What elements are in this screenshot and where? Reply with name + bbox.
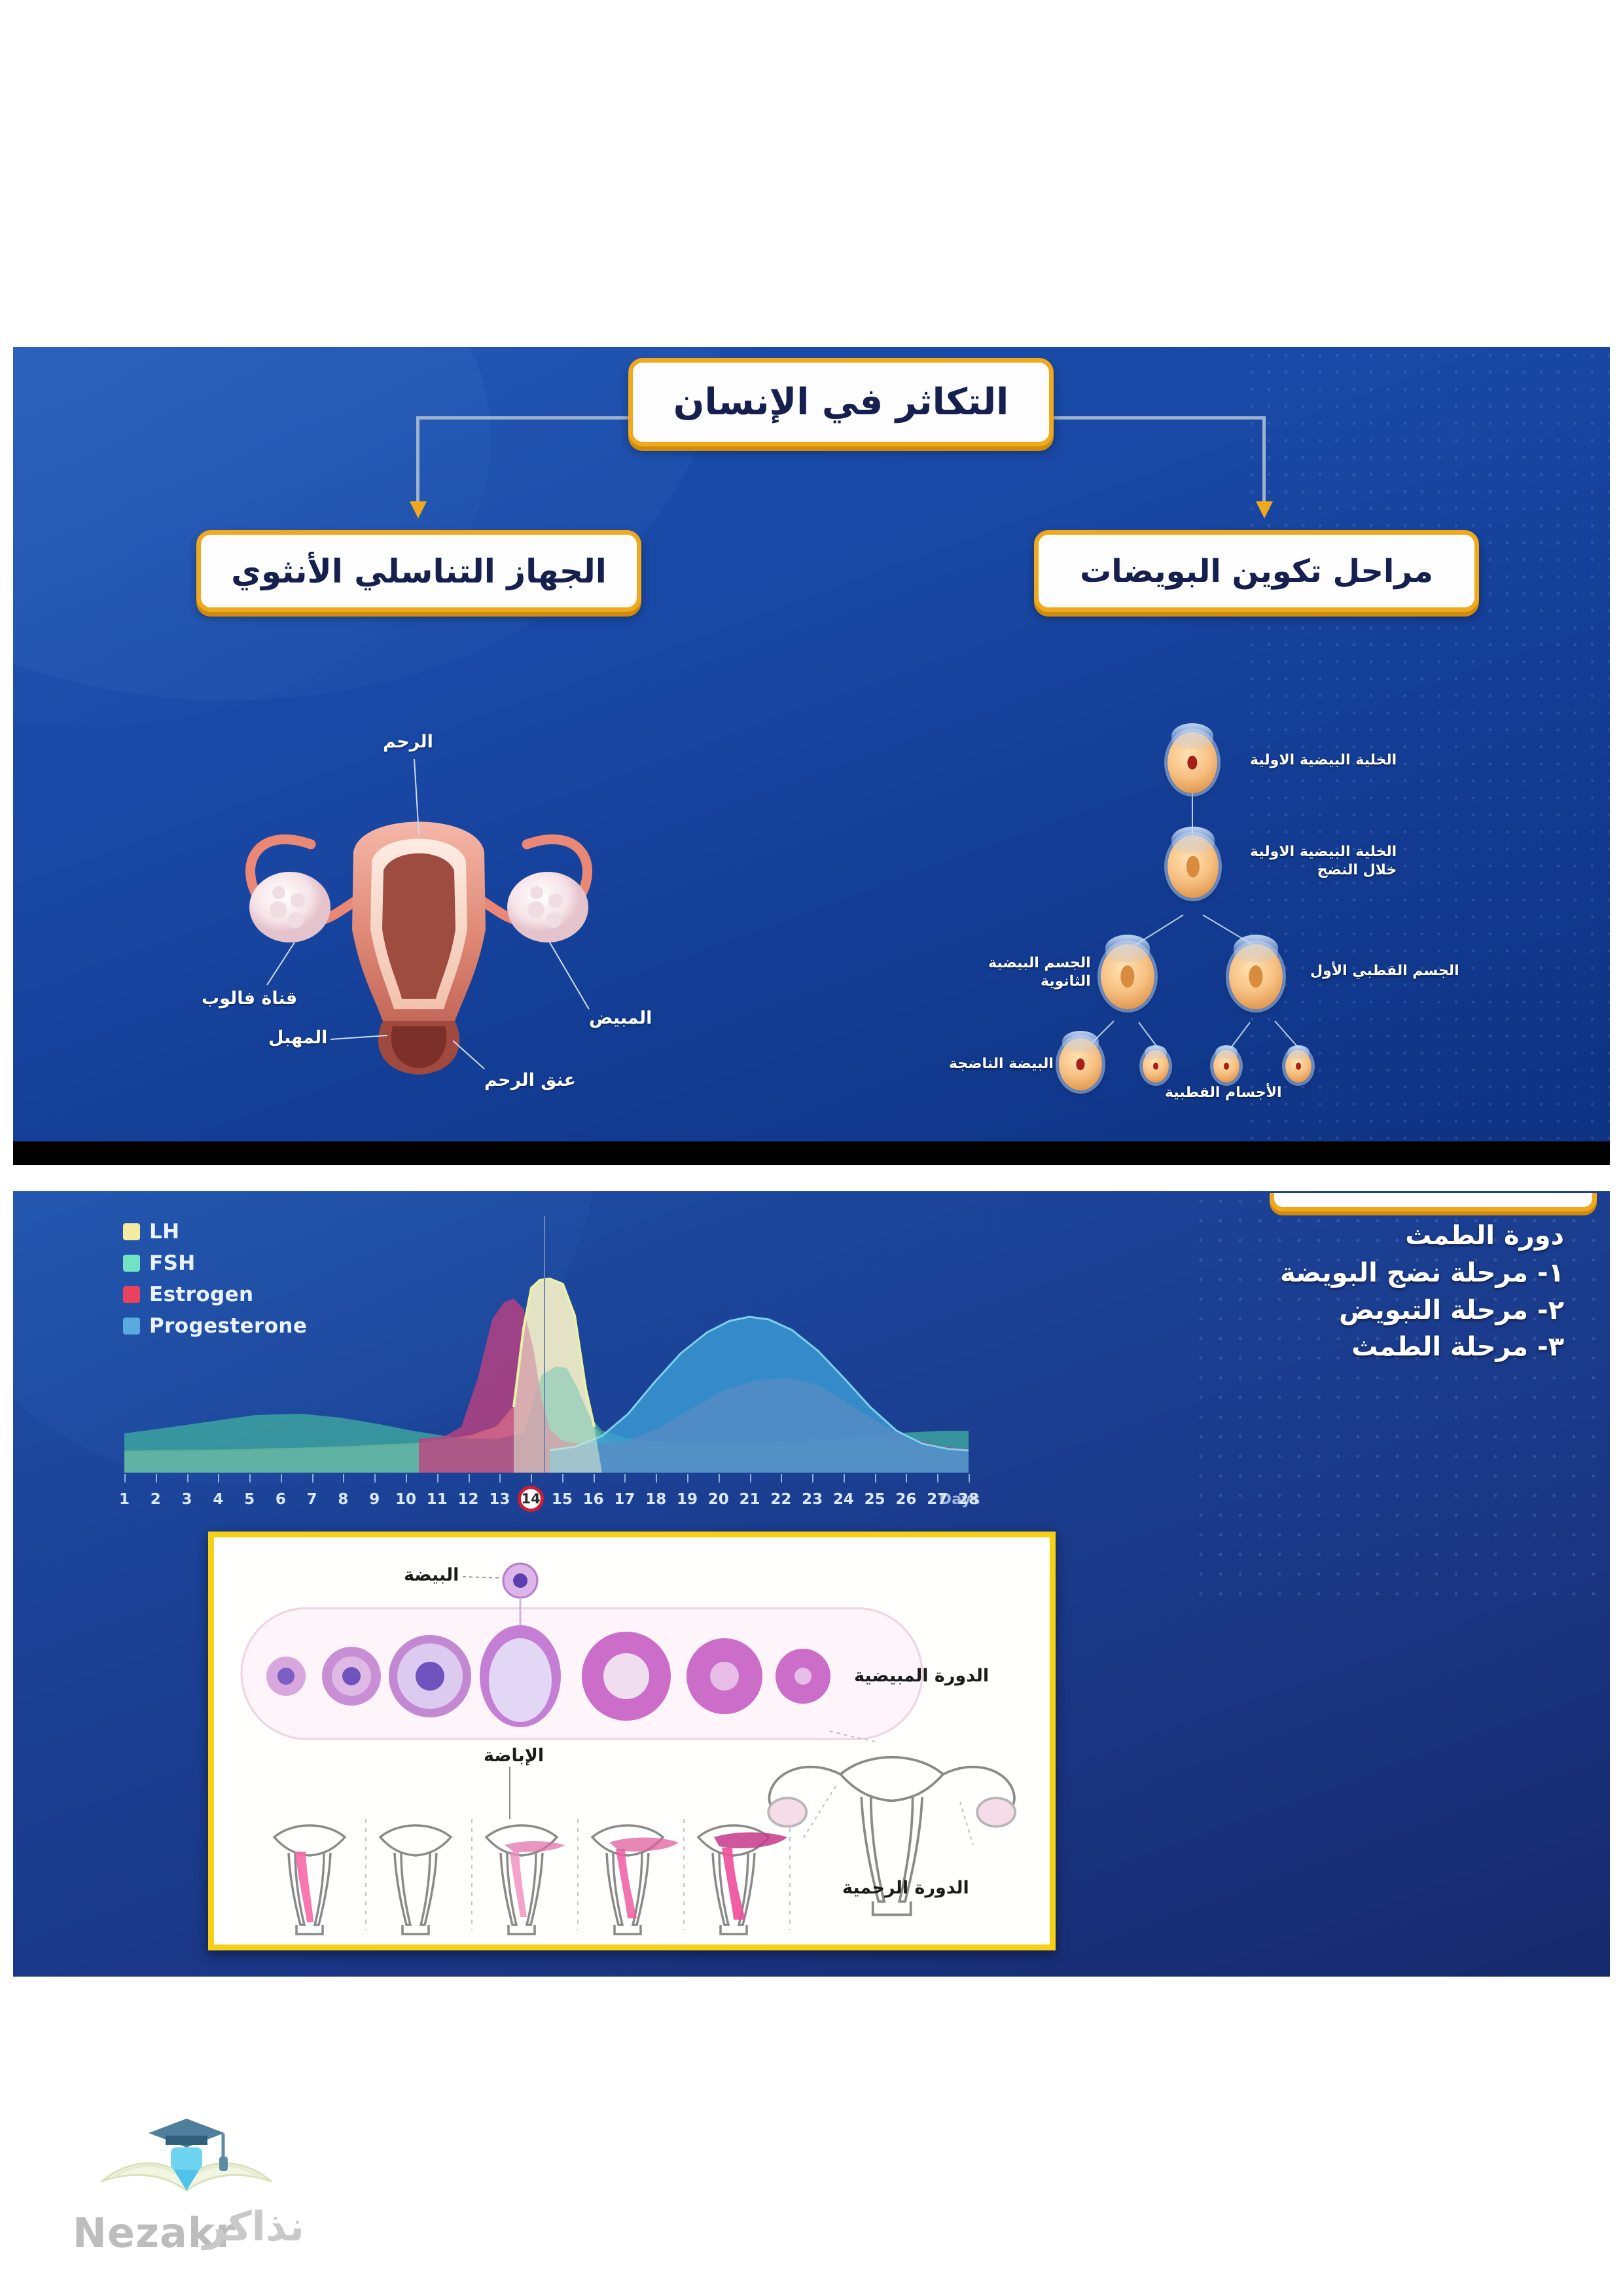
page-title: التكاثر في الإنسان — [628, 358, 1054, 446]
axis-day-label: 23 — [802, 1491, 823, 1508]
axis-day-label: 13 — [489, 1491, 510, 1508]
legend-item-lh: LH — [123, 1220, 307, 1244]
legend-label-estrogen: Estrogen — [149, 1283, 254, 1306]
primary-oocyte-label: الخلية البيضية الاولية — [1250, 751, 1397, 770]
axis-day-label: 17 — [614, 1491, 635, 1508]
branch-box-female-reproductive-system[interactable]: الجهاز التناسلي الأنثوي — [196, 530, 641, 612]
axis-day-label: 5 — [244, 1491, 255, 1508]
menstrual-cycle-text-block: دورة الطمث ١- مرحلة نضج البويضة ٢- مرحلة… — [1047, 1217, 1564, 1366]
legend-item-fsh: FSH — [123, 1251, 307, 1275]
hormone-levels-chart: LH FSH Estrogen Progesterone Days 123456… — [105, 1211, 985, 1486]
uterus-illustration — [196, 713, 641, 1080]
axis-tick — [218, 1474, 219, 1482]
ovulation-day-marker: 14 — [518, 1486, 544, 1512]
vagina-label: المهبل — [268, 1028, 327, 1048]
ovulation-label: الإباضة — [484, 1746, 544, 1766]
axis-day-label: 27 — [927, 1491, 948, 1508]
cycle-heading: دورة الطمث — [1047, 1217, 1564, 1255]
legend-item-progesterone: Progesterone — [123, 1314, 307, 1338]
axis-tick — [781, 1474, 782, 1482]
logo-text-ar: نذاكر — [203, 2202, 304, 2250]
maturing-oocyte-cell — [1168, 835, 1219, 898]
axis-day-label: 28 — [958, 1491, 979, 1508]
chart-x-axis: Days 12345678910111213141516171819202122… — [105, 1471, 985, 1518]
axis-tick — [312, 1474, 313, 1482]
connector-line-left-horizontal — [416, 416, 632, 420]
egg-label: البيضة — [404, 1565, 459, 1585]
axis-day-label: 15 — [552, 1491, 573, 1508]
legend-swatch-progesterone — [123, 1318, 140, 1335]
axis-tick — [594, 1474, 595, 1482]
cervix-label: عنق الرحم — [484, 1070, 576, 1090]
connector-line-right-horizontal — [1050, 416, 1266, 420]
legend-label-progesterone: Progesterone — [149, 1314, 307, 1338]
cycle-item-1: ١- مرحلة نضج البويضة — [1047, 1255, 1564, 1292]
axis-day-label: 8 — [338, 1491, 348, 1508]
ovarian-uterine-cycle-panel: البيضة الإباضة الدورة المبيضية الدورة ال… — [208, 1532, 1056, 1950]
axis-tick — [437, 1474, 438, 1482]
legend-item-estrogen: Estrogen — [123, 1283, 307, 1306]
cell-cap-icon — [1287, 1045, 1310, 1059]
uterus-label: الرحم — [383, 732, 433, 752]
axis-tick — [499, 1474, 501, 1482]
uterine-cycle-label: الدورة الرحمية — [842, 1878, 969, 1898]
axis-tick — [906, 1474, 907, 1482]
axis-tick — [656, 1474, 657, 1482]
first-polar-body-cell — [1229, 944, 1283, 1009]
legend-swatch-lh — [123, 1223, 140, 1240]
oogenesis-stages-diagram: الخلية البيضية الاولية الخلية البيضية ال… — [942, 707, 1479, 1093]
cycle-item-3: ٣- مرحلة الطمث — [1047, 1329, 1564, 1366]
cell-cap-icon — [1171, 723, 1213, 749]
axis-day-label: 22 — [770, 1491, 791, 1508]
cell-cap-icon — [1062, 1031, 1098, 1053]
axis-tick — [812, 1474, 813, 1482]
mature-egg-cell — [1059, 1038, 1102, 1090]
axis-tick — [374, 1474, 376, 1482]
axis-day-label: 26 — [895, 1491, 916, 1508]
axis-day-label: 24 — [833, 1491, 854, 1508]
axis-day-label: 6 — [276, 1491, 286, 1508]
axis-day-label: 9 — [369, 1491, 380, 1508]
cycle-item-2: ٢- مرحلة التبويض — [1047, 1292, 1564, 1329]
cell-cap-icon — [1145, 1045, 1167, 1059]
cut-off-orange-box — [1270, 1193, 1597, 1211]
series-area-progesterone — [550, 1317, 969, 1473]
legend-swatch-estrogen — [123, 1286, 140, 1303]
axis-day-label: 11 — [427, 1491, 448, 1508]
axis-tick — [687, 1474, 688, 1482]
axis-tick — [187, 1474, 188, 1482]
site-logo[interactable]: Nezakr نذاكر — [62, 2104, 311, 2268]
graduation-cap-book-icon — [62, 2104, 311, 2219]
axis-tick — [875, 1474, 876, 1482]
axis-day-label: 10 — [395, 1491, 416, 1508]
axis-tick — [624, 1474, 626, 1482]
axis-day-label: 19 — [677, 1491, 698, 1508]
cell-cap-icon — [1171, 827, 1215, 853]
axis-tick — [281, 1474, 282, 1482]
axis-day-label: 4 — [213, 1491, 223, 1508]
legend-label-fsh: FSH — [149, 1251, 196, 1275]
arrow-down-icon-left — [410, 501, 427, 518]
connector-line-right-vertical — [1262, 416, 1266, 503]
axis-day-label: 20 — [708, 1491, 729, 1508]
secondary-oocyte-label: الجسم البيضية الثانوية — [988, 954, 1091, 991]
slide-bottom-black-band — [13, 1141, 1610, 1165]
axis-day-label: 3 — [182, 1491, 192, 1508]
cell-cap-icon — [1215, 1045, 1238, 1059]
axis-tick — [562, 1474, 563, 1482]
axis-day-label: 1 — [119, 1491, 130, 1508]
axis-tick — [750, 1474, 751, 1482]
axis-tick — [937, 1474, 938, 1482]
axis-day-label: 21 — [740, 1491, 760, 1508]
ovary-label: المبيض — [589, 1008, 652, 1028]
fallopian-tube-label: قناة فالوب — [202, 988, 297, 1009]
maturing-oocyte-label: الخلية البيضية الاولية خلال النضج — [1250, 843, 1397, 880]
female-reproductive-system-diagram: الرحم قناة فالوب المبيض المهبل عنق الرحم — [196, 713, 641, 1080]
polar-body-cell-3 — [1285, 1050, 1311, 1083]
axis-day-label: 18 — [645, 1491, 666, 1508]
polar-body-cell-2 — [1213, 1050, 1240, 1083]
branch-box-oocyte-formation-stages[interactable]: مراحل تكوين البويضات — [1034, 530, 1479, 612]
axis-day-label: 16 — [583, 1491, 604, 1508]
polar-bodies-label: الأجسام القطبية — [1165, 1084, 1282, 1102]
secondary-oocyte-cell — [1101, 944, 1154, 1009]
connector-line-left-vertical — [416, 416, 419, 503]
axis-day-label: 25 — [865, 1491, 885, 1508]
axis-day-label: 2 — [151, 1491, 161, 1508]
primary-oocyte-cell — [1168, 732, 1217, 793]
polar-body-cell-1 — [1143, 1050, 1169, 1083]
axis-tick — [531, 1474, 532, 1482]
axis-day-label: 7 — [307, 1491, 317, 1508]
arrow-down-icon-right — [1256, 501, 1273, 518]
cell-cap-icon — [1234, 935, 1279, 962]
first-polar-body-label: الجسم القطبي الأول — [1310, 962, 1459, 980]
ovarian-cycle-label: الدورة المبيضية — [854, 1666, 989, 1686]
axis-tick — [406, 1474, 407, 1482]
axis-tick — [343, 1474, 344, 1482]
cell-cap-icon — [1105, 935, 1150, 962]
axis-tick — [844, 1474, 845, 1482]
chart-legend: LH FSH Estrogen Progesterone — [123, 1220, 307, 1346]
axis-tick — [124, 1474, 126, 1482]
axis-tick — [719, 1474, 720, 1482]
axis-tick — [249, 1474, 251, 1482]
axis-tick — [469, 1474, 470, 1482]
legend-label-lh: LH — [149, 1220, 180, 1244]
mature-egg-label: البيضة الناضجة — [949, 1055, 1054, 1073]
legend-swatch-fsh — [123, 1255, 140, 1272]
axis-tick — [969, 1474, 970, 1482]
axis-tick — [156, 1474, 157, 1482]
axis-day-label: 12 — [458, 1491, 479, 1508]
